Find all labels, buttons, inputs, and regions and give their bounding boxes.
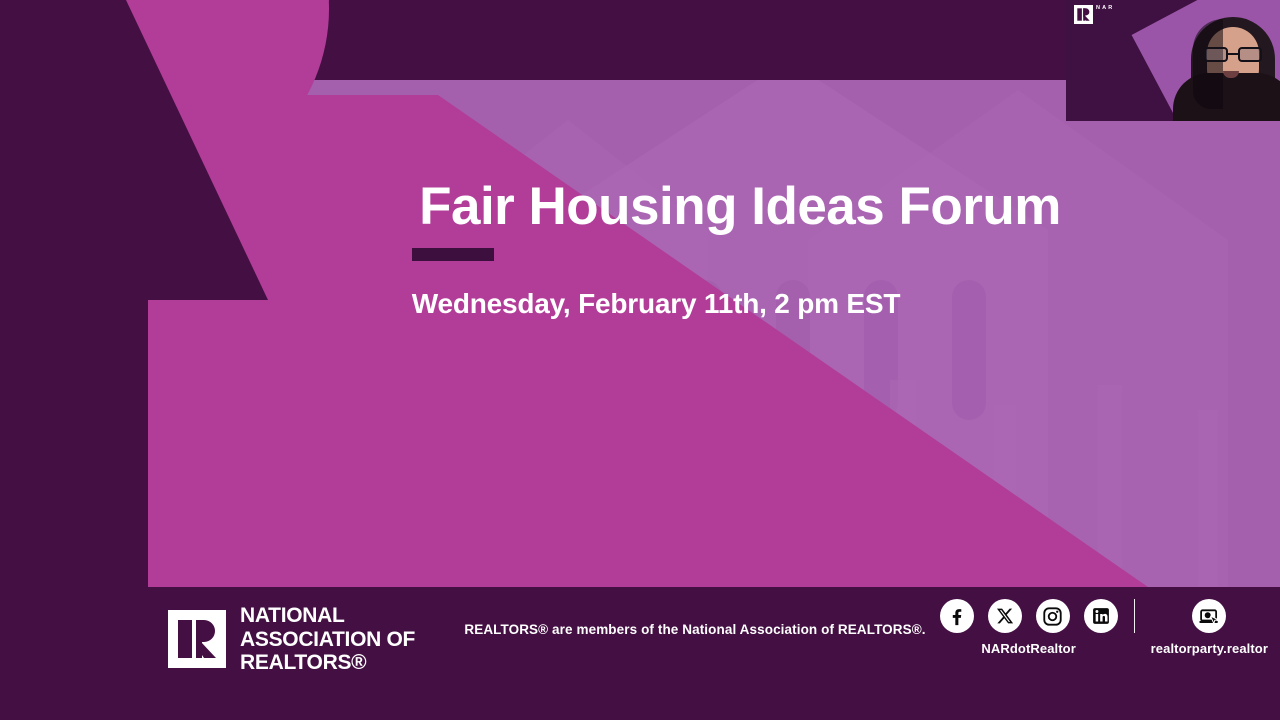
speaker-video-tile[interactable]: N A R [1066, 0, 1280, 121]
realtor-party-label: realtorparty.realtor [1151, 641, 1268, 656]
linkedin-icon[interactable] [1084, 599, 1118, 633]
nar-r-monogram-icon [1074, 5, 1093, 24]
video-tile-nar-badge: N A R [1074, 5, 1113, 24]
realtor-party-group: realtorparty.realtor [1151, 599, 1268, 656]
social-icon-row [940, 599, 1118, 633]
instagram-icon[interactable] [1036, 599, 1070, 633]
footer-bar: NATIONAL ASSOCIATION OF REALTORS® REALTO… [0, 587, 1280, 720]
glasses-bridge [1228, 53, 1238, 55]
video-tile-nar-text: N A R [1096, 5, 1113, 12]
social-handle-group: NARdotRealtor [940, 599, 1118, 656]
speaker-portrait [1167, 9, 1280, 121]
social-handle-label: NARdotRealtor [981, 641, 1075, 656]
realtor-disclaimer: REALTORS® are members of the National As… [430, 622, 960, 637]
x-twitter-icon[interactable] [988, 599, 1022, 633]
event-datetime: Wednesday, February 11th, 2 pm EST [400, 288, 912, 320]
glasses-left-lens [1204, 47, 1228, 62]
nar-r-monogram-icon [168, 610, 226, 668]
speaker-glasses [1204, 47, 1262, 62]
facebook-icon[interactable] [940, 599, 974, 633]
page-title: Fair Housing Ideas Forum [400, 178, 1080, 235]
speaker-face-shadow [1193, 19, 1223, 109]
headline-block: Fair Housing Ideas Forum [400, 178, 1080, 235]
nar-logo-lockup: NATIONAL ASSOCIATION OF REALTORS® [168, 604, 415, 675]
nar-wordmark: NATIONAL ASSOCIATION OF REALTORS® [240, 604, 415, 675]
realtor-party-icon-row [1192, 599, 1226, 633]
title-accent-bar [412, 248, 494, 261]
presentation-slide: Fair Housing Ideas Forum Wednesday, Febr… [0, 0, 1280, 720]
footer-divider [1134, 599, 1135, 633]
laptop-cursor-icon[interactable] [1192, 599, 1226, 633]
speaker-torso [1173, 73, 1280, 121]
social-links-zone: NARdotRealtor realtorparty.realtor [940, 599, 1268, 656]
glasses-right-lens [1238, 47, 1262, 62]
